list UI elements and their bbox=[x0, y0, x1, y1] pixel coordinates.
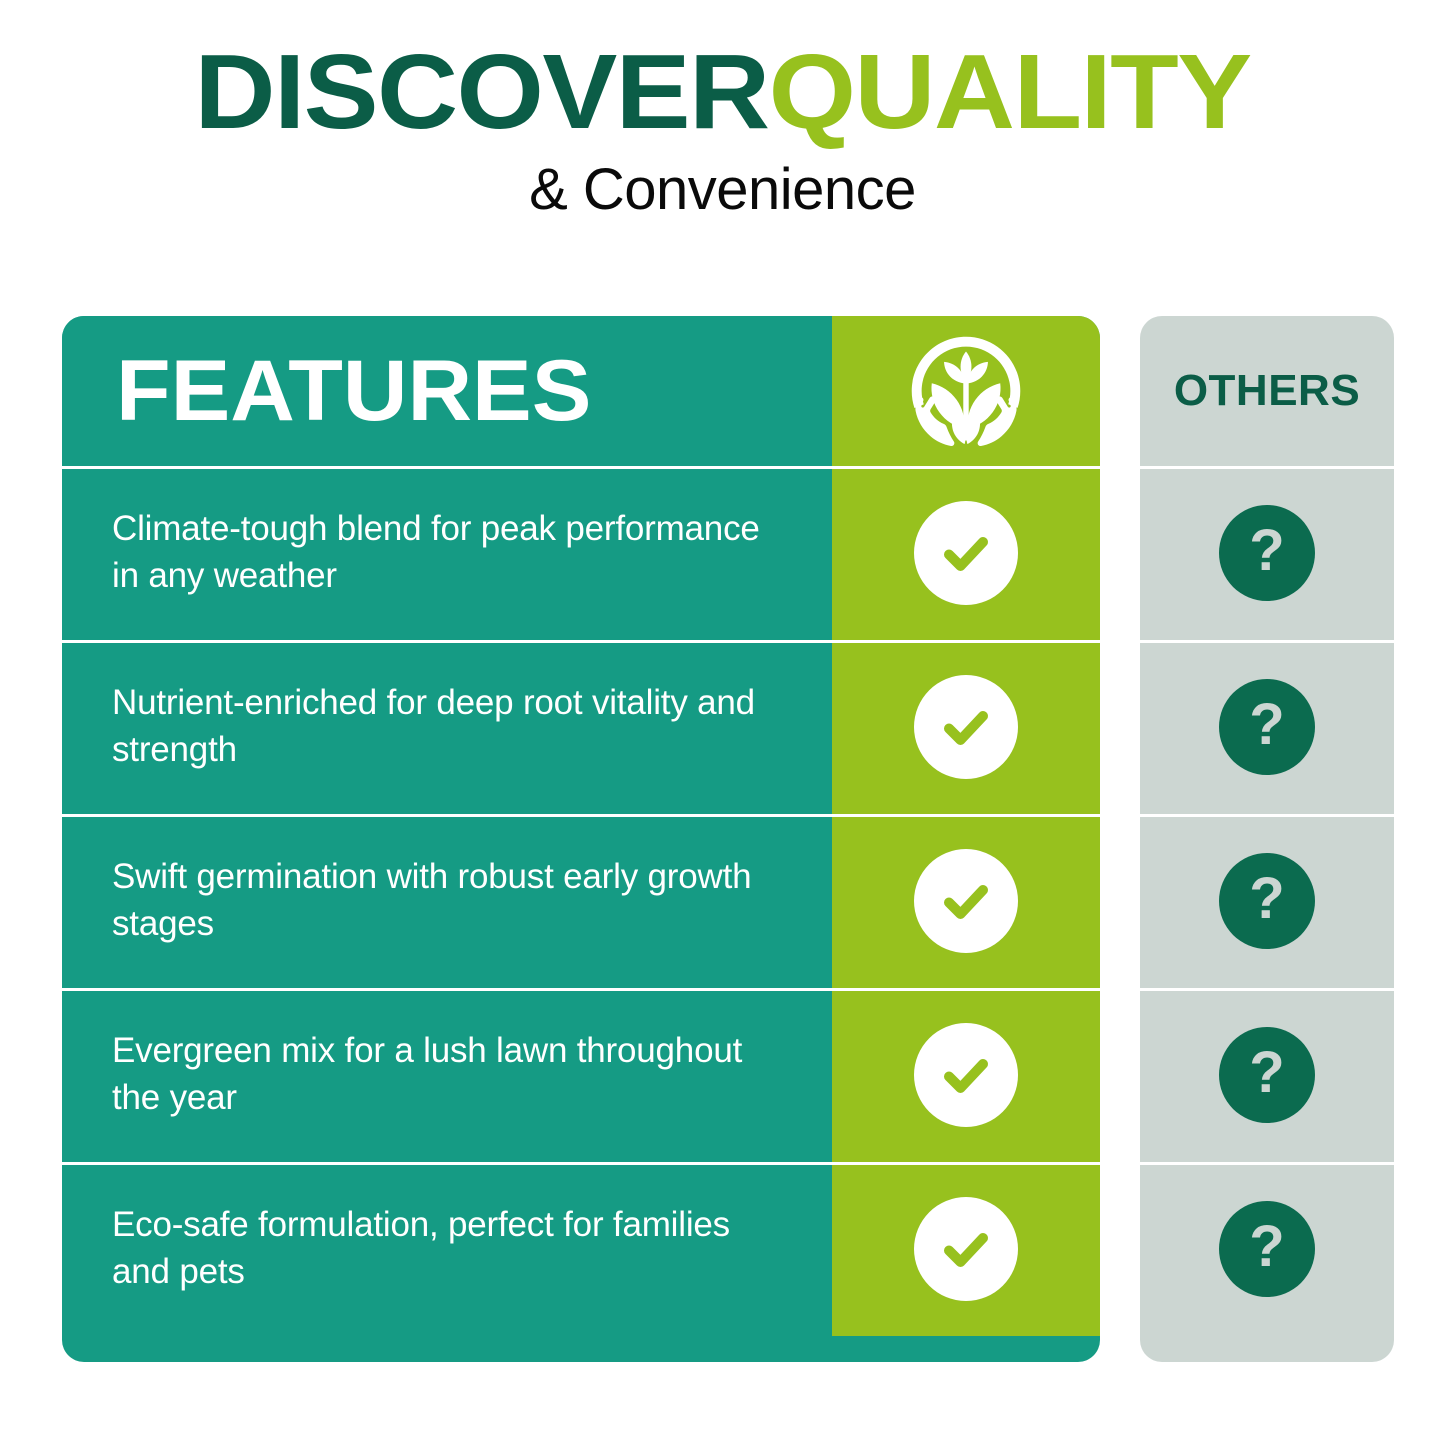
others-panel: OTHERS ? ? ? ? bbox=[1140, 316, 1394, 1362]
table-row: Nutrient-enriched for deep root vitality… bbox=[62, 640, 1100, 814]
question-mark-icon: ? bbox=[1249, 870, 1284, 928]
features-header-cell: FEATURES bbox=[62, 316, 832, 466]
feature-cell: Eco-safe formulation, perfect for famili… bbox=[62, 1162, 832, 1336]
check-badge bbox=[914, 1197, 1018, 1301]
others-column-header: OTHERS bbox=[1174, 369, 1360, 413]
brand-mark-cell bbox=[832, 814, 1100, 988]
others-mark-cell: ? bbox=[1140, 466, 1394, 640]
page-title: DISCOVERQUALITY bbox=[0, 38, 1445, 146]
question-mark-badge: ? bbox=[1219, 1027, 1315, 1123]
check-icon bbox=[935, 870, 997, 932]
title-word-quality: QUALITY bbox=[769, 33, 1251, 151]
feature-text: Nutrient-enriched for deep root vitality… bbox=[112, 680, 786, 773]
infographic-page: DISCOVERQUALITY & Convenience FEATURES bbox=[0, 0, 1445, 1445]
check-badge bbox=[914, 675, 1018, 779]
table-row: Evergreen mix for a lush lawn throughout… bbox=[62, 988, 1100, 1162]
question-mark-badge: ? bbox=[1219, 505, 1315, 601]
brand-mark-cell bbox=[832, 466, 1100, 640]
feature-cell: Evergreen mix for a lush lawn throughout… bbox=[62, 988, 832, 1162]
table-row: Climate-tough blend for peak performance… bbox=[62, 466, 1100, 640]
comparison-table: FEATURES bbox=[62, 316, 1394, 1362]
check-icon bbox=[935, 696, 997, 758]
brand-panel: FEATURES bbox=[62, 316, 1100, 1362]
feature-cell: Nutrient-enriched for deep root vitality… bbox=[62, 640, 832, 814]
question-mark-badge: ? bbox=[1219, 679, 1315, 775]
others-header-cell: OTHERS bbox=[1140, 316, 1394, 466]
feature-text: Eco-safe formulation, perfect for famili… bbox=[112, 1202, 786, 1295]
feature-text: Swift germination with robust early grow… bbox=[112, 854, 786, 947]
check-icon bbox=[935, 522, 997, 584]
table-row: Eco-safe formulation, perfect for famili… bbox=[62, 1162, 1100, 1336]
check-badge bbox=[914, 1023, 1018, 1127]
question-mark-badge: ? bbox=[1219, 1201, 1315, 1297]
question-mark-icon: ? bbox=[1249, 1218, 1284, 1276]
feature-cell: Swift germination with robust early grow… bbox=[62, 814, 832, 988]
question-mark-icon: ? bbox=[1249, 696, 1284, 754]
features-column-header: FEATURES bbox=[116, 348, 591, 434]
brand-header-cell bbox=[832, 316, 1100, 466]
check-icon bbox=[935, 1218, 997, 1280]
plant-in-hands-logo-icon bbox=[907, 332, 1025, 450]
title-word-discover: DISCOVER bbox=[194, 33, 768, 151]
feature-text: Evergreen mix for a lush lawn throughout… bbox=[112, 1028, 786, 1121]
table-row: Swift germination with robust early grow… bbox=[62, 814, 1100, 988]
check-icon bbox=[935, 1044, 997, 1106]
check-badge bbox=[914, 849, 1018, 953]
question-mark-icon: ? bbox=[1249, 522, 1284, 580]
heading-block: DISCOVERQUALITY & Convenience bbox=[0, 38, 1445, 221]
others-mark-cell: ? bbox=[1140, 640, 1394, 814]
others-mark-cell: ? bbox=[1140, 814, 1394, 988]
question-mark-icon: ? bbox=[1249, 1044, 1284, 1102]
page-subtitle: & Convenience bbox=[0, 160, 1445, 221]
brand-mark-cell bbox=[832, 1162, 1100, 1336]
brand-mark-cell bbox=[832, 988, 1100, 1162]
others-mark-cell: ? bbox=[1140, 1162, 1394, 1336]
table-header-row: FEATURES bbox=[62, 316, 1100, 466]
feature-cell: Climate-tough blend for peak performance… bbox=[62, 466, 832, 640]
others-mark-cell: ? bbox=[1140, 988, 1394, 1162]
check-badge bbox=[914, 501, 1018, 605]
feature-text: Climate-tough blend for peak performance… bbox=[112, 506, 786, 599]
brand-mark-cell bbox=[832, 640, 1100, 814]
question-mark-badge: ? bbox=[1219, 853, 1315, 949]
